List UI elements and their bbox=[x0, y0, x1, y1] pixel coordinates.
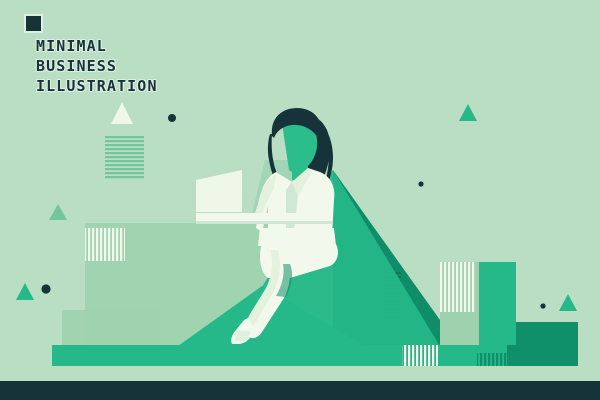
ground-bar-dark-end bbox=[507, 345, 578, 366]
laptop-base bbox=[196, 213, 332, 221]
dot-top-left bbox=[168, 114, 176, 122]
stripes-vertical-left bbox=[85, 228, 125, 261]
dot-left-low bbox=[41, 284, 50, 293]
footer-bar bbox=[0, 381, 600, 400]
stripes-vertical-right-upper bbox=[440, 262, 476, 312]
square-mark-icon bbox=[24, 14, 43, 33]
stripes-vertical-bottom-left bbox=[402, 345, 438, 366]
dot-mid-right bbox=[418, 181, 423, 186]
skirt bbox=[258, 228, 336, 246]
ground-bar-mid-block bbox=[438, 345, 478, 366]
illustration-canvas: MINIMAL BUSINESS ILLUSTRATION bbox=[0, 0, 600, 400]
laptop-base-shadow bbox=[196, 221, 332, 224]
stripes-vertical-bottom-right bbox=[477, 353, 507, 366]
minimal-business-illustration bbox=[0, 0, 600, 400]
stripes-horizontal-top-left bbox=[105, 135, 144, 179]
dot-right-low bbox=[540, 303, 545, 308]
